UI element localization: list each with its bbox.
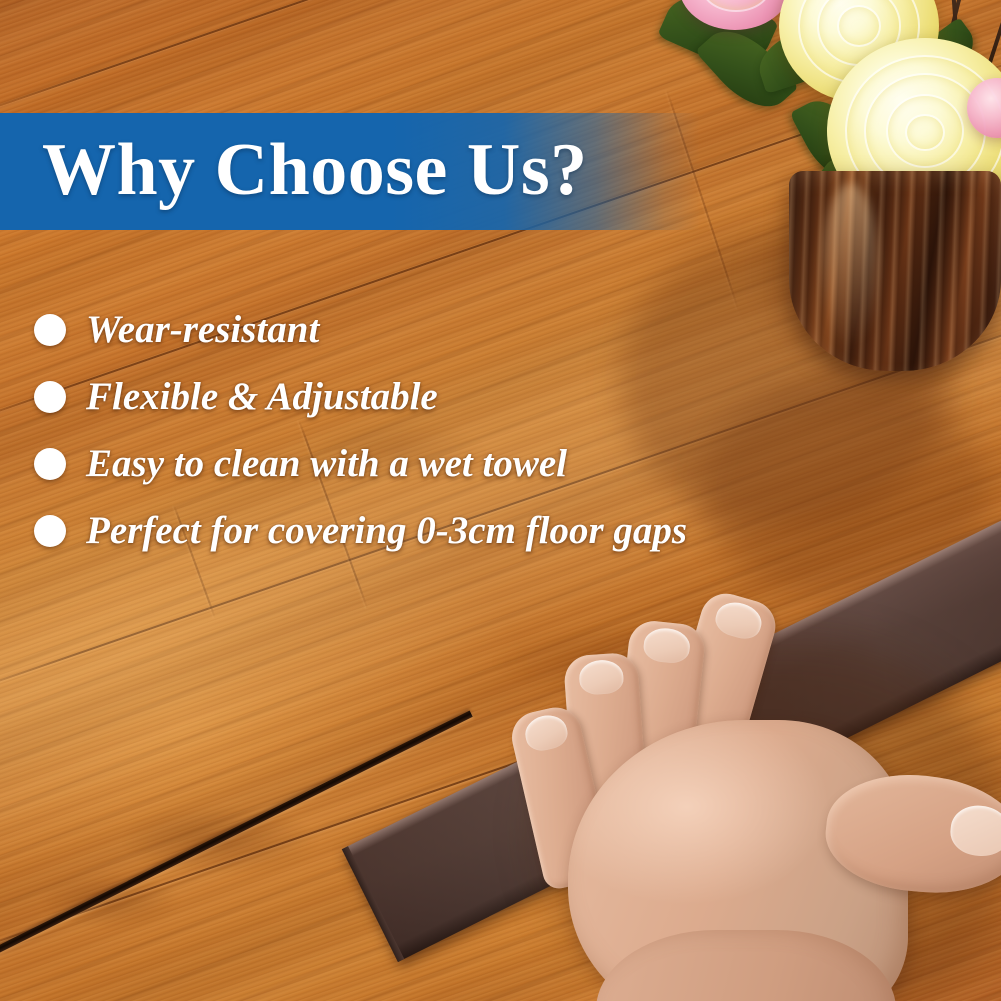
glass-vase: [789, 171, 1001, 371]
fingernail: [712, 598, 765, 643]
bullet-circle-icon: [34, 448, 66, 480]
feature-label: Perfect for covering 0-3cm floor gaps: [86, 508, 687, 553]
hand-pressing-strip: [560, 600, 1001, 1001]
feature-list: Wear-resistant Flexible & Adjustable Eas…: [34, 296, 754, 564]
feature-label: Flexible & Adjustable: [86, 374, 438, 419]
bullet-circle-icon: [34, 515, 66, 547]
feature-label: Easy to clean with a wet towel: [86, 441, 567, 486]
vase-highlight: [823, 183, 878, 347]
title-banner: Why Choose Us?: [0, 113, 700, 230]
fingernail: [522, 711, 571, 754]
feature-item: Easy to clean with a wet towel: [34, 430, 754, 497]
fingernail: [578, 659, 625, 696]
vase-fluting: [789, 171, 1001, 371]
rose-petal: [701, 0, 770, 12]
product-feature-image: Why Choose Us? Wear-resistant Flexible &…: [0, 0, 1001, 1001]
flower-vase-arrangement: [671, 0, 1001, 346]
feature-item: Wear-resistant: [34, 296, 754, 363]
rose-petal: [905, 114, 944, 151]
feature-label: Wear-resistant: [86, 307, 319, 352]
feature-item: Flexible & Adjustable: [34, 363, 754, 430]
bullet-circle-icon: [34, 381, 66, 413]
bullet-circle-icon: [34, 314, 66, 346]
page-title: Why Choose Us?: [42, 127, 588, 212]
feature-item: Perfect for covering 0-3cm floor gaps: [34, 497, 754, 564]
thumbnail: [948, 803, 1001, 859]
fingernail: [642, 626, 691, 665]
